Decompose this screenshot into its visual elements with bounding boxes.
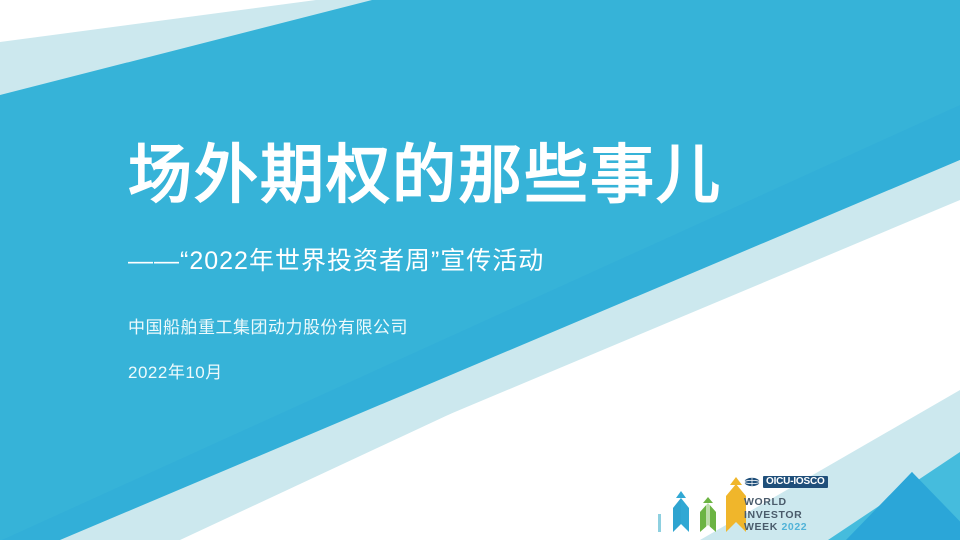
- presenter-meta: 中国船舶重工集团动力股份有限公司 2022年10月: [128, 277, 868, 385]
- iosco-badge: OICU-IOSCO: [744, 476, 828, 488]
- world-investor-week-logo: OICU-IOSCO WORLD INVESTOR WEEK 2022: [656, 474, 832, 536]
- iosco-badge-text: OICU-IOSCO: [763, 476, 828, 488]
- logo-tick: [658, 514, 661, 532]
- logo-ribbon-green: [700, 497, 716, 532]
- page-title: 场外期权的那些事儿: [128, 140, 868, 212]
- logo-wordmark: WORLD INVESTOR WEEK 2022: [744, 496, 807, 534]
- logo-ribbon-yellow: [726, 477, 746, 532]
- logo-ribbon-blue: [673, 491, 689, 532]
- presentation-date: 2022年10月: [128, 340, 868, 385]
- logo-word-investor: INVESTOR: [744, 509, 807, 522]
- organization-name: 中国船舶重工集团动力股份有限公司: [128, 317, 868, 340]
- globe-icon: [744, 477, 760, 487]
- logo-year: 2022: [781, 521, 807, 533]
- title-text-block: 场外期权的那些事儿 ——“2022年世界投资者周”宣传活动 中国船舶重工集团动力…: [128, 140, 868, 385]
- page-subtitle: ——“2022年世界投资者周”宣传活动: [128, 212, 868, 277]
- logo-word-world: WORLD: [744, 496, 807, 509]
- logo-word-week: WEEK: [744, 521, 778, 533]
- presentation-title-slide: 场外期权的那些事儿 ——“2022年世界投资者周”宣传活动 中国船舶重工集团动力…: [0, 0, 960, 540]
- logo-word-week-line: WEEK 2022: [744, 521, 807, 534]
